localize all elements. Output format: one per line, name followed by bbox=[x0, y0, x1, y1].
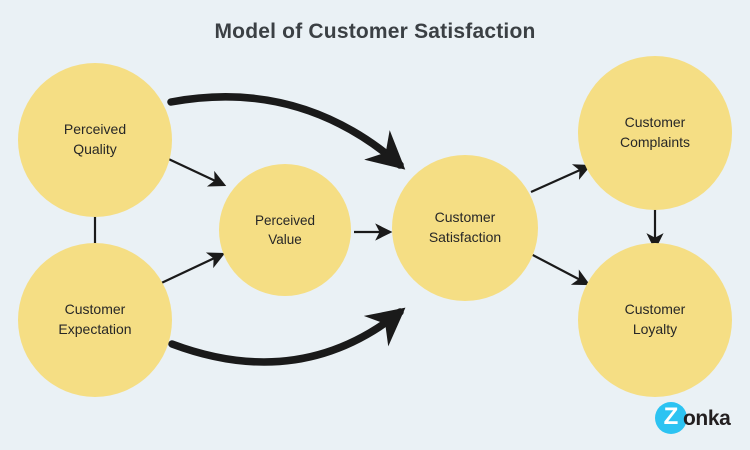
node-line-2: Complaints bbox=[620, 134, 690, 150]
node-line-2: Quality bbox=[73, 141, 117, 157]
node-line-2: Loyalty bbox=[633, 321, 677, 337]
edge-satisfaction-to-loyalty bbox=[527, 252, 588, 284]
diagram-canvas: Model of Customer Satisfaction bbox=[0, 0, 750, 450]
zonka-logo-wordmark: onka bbox=[683, 407, 730, 431]
node-line-1: Customer bbox=[625, 114, 686, 130]
node-customer-complaints[interactable]: CustomerComplaints bbox=[578, 56, 732, 210]
zonka-logo-letter: Z bbox=[664, 405, 679, 429]
node-customer-satisfaction[interactable]: CustomerSatisfaction bbox=[392, 155, 538, 301]
edge-quality-to-satisfaction bbox=[171, 97, 400, 165]
edge-expectation-to-satisfaction bbox=[172, 312, 400, 362]
node-customer-complaints-label: CustomerComplaints bbox=[612, 113, 698, 153]
node-perceived-quality[interactable]: PerceivedQuality bbox=[18, 63, 172, 217]
node-line-1: Perceived bbox=[255, 213, 315, 228]
edge-quality-to-value bbox=[160, 155, 224, 185]
node-line-1: Perceived bbox=[64, 121, 126, 137]
node-customer-loyalty-label: CustomerLoyalty bbox=[617, 300, 694, 340]
node-perceived-quality-label: PerceivedQuality bbox=[56, 120, 134, 160]
node-customer-expectation[interactable]: CustomerExpectation bbox=[18, 243, 172, 397]
node-line-2: Value bbox=[268, 232, 302, 247]
edge-expectation-to-value bbox=[155, 254, 223, 286]
node-line-1: Customer bbox=[65, 301, 126, 317]
node-perceived-value[interactable]: PerceivedValue bbox=[219, 164, 351, 296]
node-perceived-value-label: PerceivedValue bbox=[247, 211, 323, 249]
zonka-logo[interactable]: Z onka bbox=[655, 400, 745, 436]
node-line-1: Customer bbox=[625, 301, 686, 317]
node-customer-loyalty[interactable]: CustomerLoyalty bbox=[578, 243, 732, 397]
edge-satisfaction-to-complaints bbox=[531, 166, 589, 192]
node-customer-satisfaction-label: CustomerSatisfaction bbox=[421, 208, 509, 248]
node-line-2: Expectation bbox=[58, 321, 131, 337]
node-customer-expectation-label: CustomerExpectation bbox=[50, 300, 139, 340]
node-line-1: Customer bbox=[435, 209, 496, 225]
node-line-2: Satisfaction bbox=[429, 229, 501, 245]
